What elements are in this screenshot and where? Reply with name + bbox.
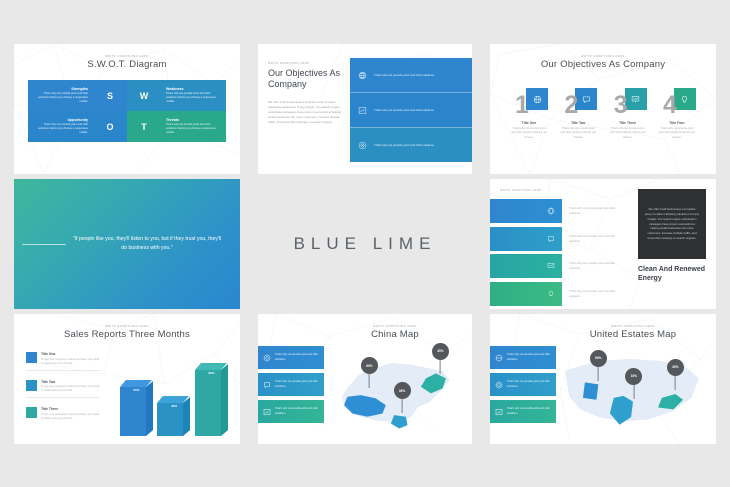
legend-text: To get your company's name out there, yo… (41, 413, 100, 421)
china-map-graphic[interactable]: 60% 35% 40% (324, 348, 466, 438)
list-item[interactable]: That's why we provide point and click so… (350, 92, 472, 127)
bar-face (195, 370, 221, 436)
item-text: That's why we provide point and click so… (605, 127, 651, 140)
item-title: Title Three (605, 121, 651, 125)
item-text: That's why we provide point and click so… (555, 127, 601, 140)
step-number: 4 (663, 95, 677, 116)
swot-letter-w: W (127, 91, 161, 101)
step-number: 3 (614, 95, 628, 116)
pin-value: 60% (595, 356, 601, 360)
slide-header: WRITE SOMETHING HERE Sales Reports Three… (14, 325, 240, 340)
quote-text: "If people like you, they'll listen to y… (72, 235, 222, 253)
body-paragraph: We offer small businesses a complete arr… (268, 100, 342, 125)
list-item[interactable]: That's why we provide point and click so… (350, 58, 472, 92)
slide-sales-report[interactable]: WRITE SOMETHING HERE Sales Reports Three… (14, 314, 240, 444)
target-icon (358, 141, 367, 150)
gradient-bar (490, 282, 562, 306)
panel-title: Clean And Renewed Energy (638, 265, 706, 284)
map-pin[interactable]: 60% (361, 357, 378, 374)
eyebrow-text: WRITE SOMETHING HERE (500, 189, 542, 192)
swot-heading: Threats (166, 118, 221, 122)
pin-value: 40% (437, 349, 443, 353)
bar-side (183, 397, 190, 436)
pin-value: 40% (672, 365, 678, 369)
swot-cell-opportunity[interactable]: Opportunity That's why we provide point … (28, 111, 127, 142)
legend-swatch (26, 352, 37, 363)
map-pin[interactable]: 40% (432, 343, 449, 360)
list-item-text: That's why we provide point and click so… (374, 143, 435, 148)
china-map-legend: That's why we provide point and click so… (258, 346, 324, 423)
chat-icon (582, 95, 591, 104)
presentation-icon (631, 95, 640, 104)
list-item-text: That's why we provide point and click so… (374, 73, 435, 78)
item-text: That's why we provide point and click so… (654, 127, 700, 140)
globe-icon (547, 207, 555, 215)
bulb-icon (547, 290, 555, 298)
bar-side (146, 381, 153, 436)
gradient-bar (490, 199, 562, 223)
legend-swatch (26, 407, 37, 418)
bar-value-label: 60% (134, 388, 140, 392)
map-pin[interactable]: 60% (590, 350, 607, 367)
list-item[interactable]: That's why we provide point and click so… (490, 373, 556, 396)
legend-swatch (26, 380, 37, 391)
dark-text-panel: We offer small businesses a complete arr… (638, 189, 706, 259)
presentation-icon (547, 262, 555, 270)
swot-cell-threats[interactable]: T Threats That's why we provide point an… (127, 111, 226, 142)
brand-name: BLUE LIME (294, 234, 437, 254)
list-item-text: That's why we provide point and click so… (507, 407, 556, 415)
swot-letter-o: O (93, 122, 127, 132)
objectives-list: That's why we provide point and click so… (350, 58, 472, 162)
list-item[interactable]: That's why we provide point and click so… (490, 282, 622, 306)
list-item-text: That's why we provide point and click so… (562, 261, 621, 271)
eyebrow-text: WRITE SOMETHING HERE (318, 325, 472, 328)
page-title: United Estates Map (550, 329, 716, 340)
chart-icon (263, 408, 271, 416)
icon-tile (575, 88, 597, 110)
item-text: That's why we provide point and click so… (506, 127, 552, 140)
chat-icon (547, 235, 555, 243)
bar-value-label: 80% (209, 371, 215, 375)
item-title: Title One (506, 121, 552, 125)
target-icon (263, 354, 271, 362)
slide-quote[interactable]: "If people like you, they'll listen to y… (14, 179, 240, 309)
bulb-icon (680, 95, 689, 104)
list-item[interactable]: That's why we provide point and click so… (258, 373, 324, 396)
swot-text: That's why we provide point and click so… (33, 92, 88, 104)
numbered-items: 1 Title One That's why we provide point … (506, 88, 700, 140)
step-number: 1 (515, 95, 529, 116)
eyebrow-text: WRITE SOMETHING HERE (268, 62, 342, 65)
slide-clean-energy[interactable]: WRITE SOMETHING HERE That's why we provi… (490, 179, 716, 309)
map-pin[interactable]: 15% (625, 368, 642, 385)
swot-letter-s: S (93, 91, 127, 101)
list-item[interactable]: That's why we provide point and click so… (490, 254, 622, 278)
legend-text: To get your company's name out there, yo… (41, 385, 100, 393)
legend-text: To get your company's name out there, yo… (41, 358, 100, 366)
swot-letter-t: T (127, 122, 161, 132)
target-icon (495, 381, 503, 389)
icon-tile (625, 88, 647, 110)
list-item[interactable]: That's why we provide point and click so… (490, 400, 556, 423)
slide-objectives-numbered[interactable]: WRITE SOMETHING HERE Our Objectives As C… (490, 44, 716, 174)
legend-title: Title One (41, 352, 100, 356)
slide-header: WRITE SOMETHING HERE China Map (318, 325, 472, 340)
swot-matrix: Strengths That's why we provide point an… (28, 80, 226, 142)
swot-text: That's why we provide point and click so… (166, 92, 221, 104)
bar-value-label: 40% (171, 404, 177, 408)
usa-map-graphic[interactable]: 60% 15% 40% (556, 348, 710, 438)
eyebrow-text: WRITE SOMETHING HERE (14, 55, 240, 58)
list-item-text: That's why we provide point and click so… (275, 407, 324, 415)
dark-panel-text: We offer small businesses a complete arr… (645, 207, 699, 241)
eyebrow-text: WRITE SOMETHING HERE (550, 325, 716, 328)
objectives-text-block: WRITE SOMETHING HERE Our Objectives As C… (268, 62, 342, 125)
numbered-item-4[interactable]: 4 Title Four That's why we provide point… (654, 88, 700, 140)
list-item[interactable]: That's why we provide point and click so… (490, 199, 622, 223)
list-item[interactable]: That's why we provide point and click so… (258, 400, 324, 423)
list-item-text: That's why we provide point and click so… (562, 234, 621, 244)
bar-side (221, 365, 228, 436)
list-item-text: That's why we provide point and click so… (562, 206, 621, 216)
bar[interactable]: 60% (120, 387, 146, 436)
gradient-bar (490, 254, 562, 278)
pin-value: 35% (399, 389, 405, 393)
swot-heading: Opportunity (33, 118, 88, 122)
swot-cell-strengths[interactable]: Strengths That's why we provide point an… (28, 80, 127, 111)
globe-icon (358, 71, 367, 80)
slide-swot-diagram[interactable]: WRITE SOMETHING HERE S.W.O.T. Diagram St… (14, 44, 240, 174)
list-item-text: That's why we provide point and click so… (507, 380, 556, 388)
swot-heading: Weakness (166, 87, 221, 91)
page-title: Sales Reports Three Months (14, 329, 240, 340)
globe-icon (533, 95, 542, 104)
legend-title: Title Two (41, 380, 100, 384)
bar-face (157, 403, 183, 436)
item-title: Title Four (654, 121, 700, 125)
slide-deck: WRITE SOMETHING HERE S.W.O.T. Diagram St… (0, 0, 730, 487)
list-item-text: That's why we provide point and click so… (275, 353, 324, 361)
slide-header: WRITE SOMETHING HERE Our Objectives As C… (490, 55, 716, 70)
bar[interactable]: 40% (157, 403, 183, 436)
swot-text: That's why we provide point and click so… (33, 123, 88, 135)
quote-rule (22, 244, 66, 245)
chart-legend: Title One To get your company's name out… (26, 352, 100, 425)
eyebrow-text: WRITE SOMETHING HERE (490, 55, 716, 58)
page-title: S.W.O.T. Diagram (14, 59, 240, 70)
numbered-item-2[interactable]: 2 Title Two That's why we provide point … (555, 88, 601, 140)
page-title: China Map (318, 329, 472, 340)
globe-icon (495, 354, 503, 362)
swot-text: That's why we provide point and click so… (166, 123, 221, 135)
bar-face (120, 387, 146, 436)
page-title: Our Objectives As Company (490, 59, 716, 70)
list-item-text: That's why we provide point and click so… (275, 380, 324, 388)
chart-icon (358, 106, 367, 115)
icon-tile (526, 88, 548, 110)
list-item-text: That's why we provide point and click so… (374, 108, 435, 113)
icon-tile (674, 88, 696, 110)
item-title: Title Two (555, 121, 601, 125)
list-item[interactable]: That's why we provide point and click so… (490, 227, 622, 251)
bar-chart: 60%40%80% (108, 350, 232, 436)
page-title: Our Objectives As Company (268, 68, 342, 91)
list-item[interactable]: That's why we provide point and click so… (490, 346, 556, 369)
chart-icon (495, 408, 503, 416)
map-pin[interactable]: 35% (394, 382, 411, 399)
bar-top (120, 380, 152, 387)
pin-value: 60% (366, 364, 372, 368)
map-pin[interactable]: 40% (667, 359, 684, 376)
list-item[interactable]: That's why we provide point and click so… (350, 127, 472, 162)
brand-wordmark: BLUE LIME (258, 179, 472, 309)
slide-united-states-map[interactable]: WRITE SOMETHING HERE United Estates Map … (490, 314, 716, 444)
slide-header: WRITE SOMETHING HERE S.W.O.T. Diagram (14, 55, 240, 70)
list-item-text: That's why we provide point and click so… (562, 289, 621, 299)
slide-header: WRITE SOMETHING HERE United Estates Map (550, 325, 716, 340)
usa-map-legend: That's why we provide point and click so… (490, 346, 556, 423)
gradient-list: That's why we provide point and click so… (490, 199, 622, 306)
eyebrow-text: WRITE SOMETHING HERE (14, 325, 240, 328)
bar[interactable]: 80% (195, 370, 221, 436)
swot-cell-weakness[interactable]: W Weakness That's why we provide point a… (127, 80, 226, 111)
numbered-item-3[interactable]: 3 Title Three That's why we provide poin… (605, 88, 651, 140)
legend-title: Title Three (41, 407, 100, 411)
legend-item[interactable]: Title Two To get your company's name out… (26, 380, 100, 399)
legend-item[interactable]: Title Three To get your company's name o… (26, 407, 100, 425)
list-item[interactable]: That's why we provide point and click so… (258, 346, 324, 369)
gradient-bar (490, 227, 562, 251)
slide-our-objectives[interactable]: WRITE SOMETHING HERE Our Objectives As C… (258, 44, 472, 174)
swot-heading: Strengths (33, 87, 88, 91)
chat-icon (263, 381, 271, 389)
numbered-item-1[interactable]: 1 Title One That's why we provide point … (506, 88, 552, 140)
step-number: 2 (564, 95, 578, 116)
legend-item[interactable]: Title One To get your company's name out… (26, 352, 100, 371)
pin-value: 15% (631, 374, 637, 378)
list-item-text: That's why we provide point and click so… (507, 353, 556, 361)
slide-china-map[interactable]: WRITE SOMETHING HERE China Map That's wh… (258, 314, 472, 444)
